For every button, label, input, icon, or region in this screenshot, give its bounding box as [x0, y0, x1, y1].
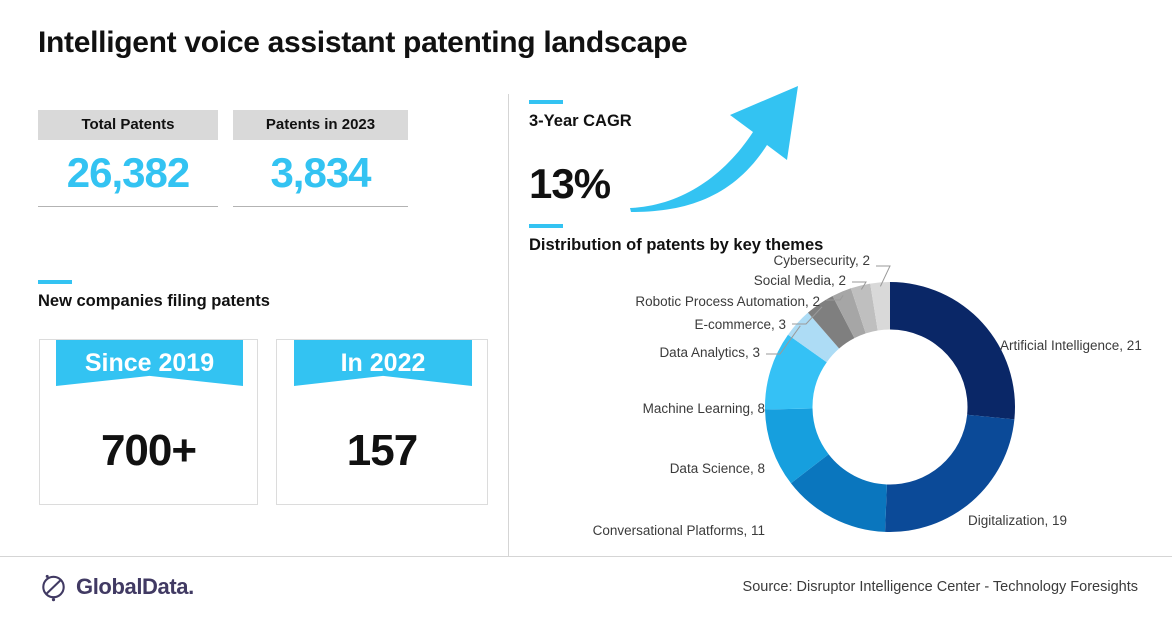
donut-segment-label: Machine Learning, 8: [550, 400, 765, 417]
donut-segment-label: Data Science, 8: [550, 460, 765, 477]
kpi-card-patents-2023: Patents in 2023 3,834: [233, 110, 408, 207]
kpi-value: 26,382: [38, 140, 218, 206]
rising-arrow-icon: [627, 82, 802, 217]
kpi-underline: [38, 206, 218, 207]
kpi-card-total-patents: Total Patents 26,382: [38, 110, 218, 207]
donut-segment-label: E-commerce, 3: [550, 316, 786, 333]
ribbon-value: 700+: [40, 426, 257, 476]
section-title: 3-Year CAGR: [529, 112, 632, 131]
donut-segment-label: Data Analytics, 3: [550, 344, 760, 361]
donut-segment-label: Conversational Platforms, 11: [550, 522, 765, 539]
vertical-divider: [508, 94, 509, 556]
themes-section-heading: Distribution of patents by key themes: [529, 224, 823, 255]
globaldata-logo-icon: [40, 572, 67, 602]
source-note: Source: Disruptor Intelligence Center - …: [743, 579, 1138, 595]
footer-divider: [0, 556, 1172, 557]
kpi-underline: [233, 206, 408, 207]
donut-segment-label: Digitalization, 19: [968, 512, 1168, 529]
donut-chart: Artificial Intelligence, 21Digitalizatio…: [560, 262, 1160, 557]
donut-segment-label: Social Media, 2: [550, 272, 846, 289]
new-companies-section-heading: New companies filing patents: [38, 280, 270, 311]
ribbon-banner: Since 2019: [56, 340, 243, 386]
section-tick: [38, 280, 72, 284]
section-tick: [529, 100, 563, 104]
donut-segment-label: Robotic Process Automation, 2: [550, 293, 820, 310]
donut-segment-label: Artificial Intelligence, 21: [1000, 337, 1120, 354]
ribbon-card-in-2022: In 2022 157: [276, 339, 488, 505]
ribbon-value: 157: [277, 426, 487, 476]
ribbon-banner: In 2022: [294, 340, 472, 386]
section-tick: [529, 224, 563, 228]
donut-segment-label: Cybersecurity, 2: [550, 252, 870, 269]
kpi-value: 3,834: [233, 140, 408, 206]
section-title: New companies filing patents: [38, 292, 270, 311]
page-title: Intelligent voice assistant patenting la…: [38, 26, 687, 60]
globaldata-logo: GlobalData.: [40, 572, 194, 602]
kpi-label: Patents in 2023: [233, 110, 408, 140]
logo-text: GlobalData.: [76, 574, 194, 600]
ribbon-card-since-2019: Since 2019 700+: [39, 339, 258, 505]
donut-segment: [890, 282, 1015, 419]
kpi-label: Total Patents: [38, 110, 218, 140]
cagr-value: 13%: [529, 160, 610, 208]
cagr-section-heading: 3-Year CAGR: [529, 100, 632, 131]
infographic-page: Intelligent voice assistant patenting la…: [0, 0, 1172, 628]
